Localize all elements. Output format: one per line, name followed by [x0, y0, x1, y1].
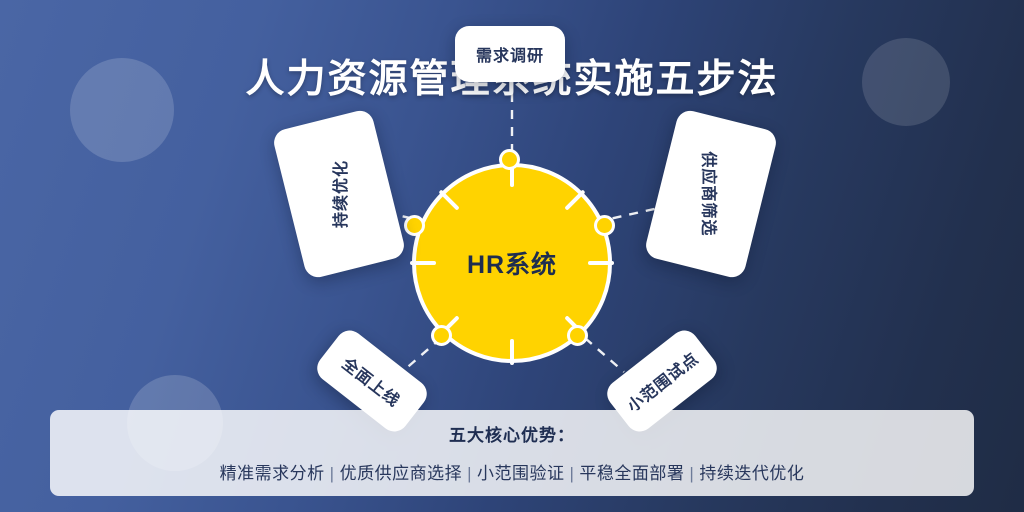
- summary-separator: |: [684, 464, 699, 483]
- summary-item: 小范围验证: [477, 464, 565, 483]
- summary-item: 优质供应商选择: [340, 464, 463, 483]
- hub-tick: [588, 261, 614, 265]
- summary-list: 精准需求分析|优质供应商选择|小范围验证|平稳全面部署|持续迭代优化: [50, 459, 974, 484]
- step-card-label: 持续优化: [327, 160, 351, 228]
- step-card-label: 需求调研: [476, 42, 544, 66]
- summary-panel: 五大核心优势： 精准需求分析|优质供应商选择|小范围验证|平稳全面部署|持续迭代…: [50, 410, 974, 496]
- step-card-requirement-research[interactable]: 需求调研: [455, 26, 565, 82]
- summary-item: 精准需求分析: [220, 464, 325, 483]
- hub-tick: [410, 261, 436, 265]
- summary-item: 持续迭代优化: [699, 464, 804, 483]
- summary-title: 五大核心优势：: [50, 421, 974, 446]
- hub-tick: [510, 339, 514, 365]
- hub-node-dot[interactable]: [567, 325, 588, 346]
- summary-separator: |: [325, 464, 340, 483]
- summary-separator: |: [462, 464, 477, 483]
- summary-item: 平稳全面部署: [579, 464, 684, 483]
- step-card-label: 供应商筛选: [699, 151, 723, 236]
- summary-separator: |: [565, 464, 580, 483]
- infographic-canvas: 人力资源管理系统实施五步法 HR系统 需求调研 供应商筛选 小范围试点 全面上线…: [0, 0, 1024, 512]
- hub-node-dot[interactable]: [499, 149, 520, 170]
